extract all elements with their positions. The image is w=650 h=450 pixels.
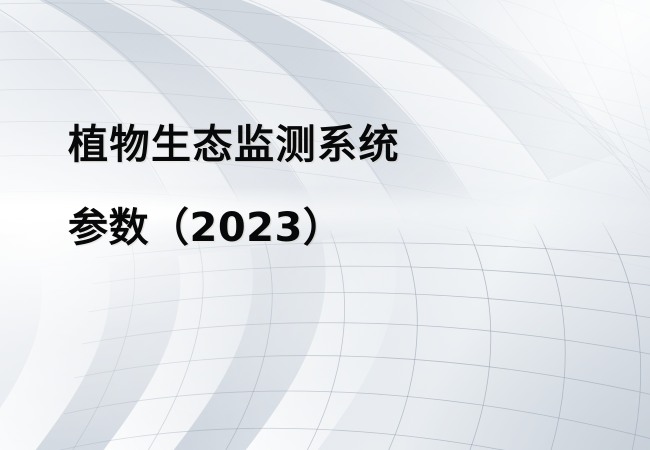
- title-line-1: 植物生态监测系统: [68, 120, 608, 170]
- title-line-2: 参数（2023）: [68, 203, 608, 253]
- title-slide: 植物生态监测系统 参数（2023）: [0, 0, 650, 450]
- page-title: 植物生态监测系统 参数（2023）: [68, 120, 608, 253]
